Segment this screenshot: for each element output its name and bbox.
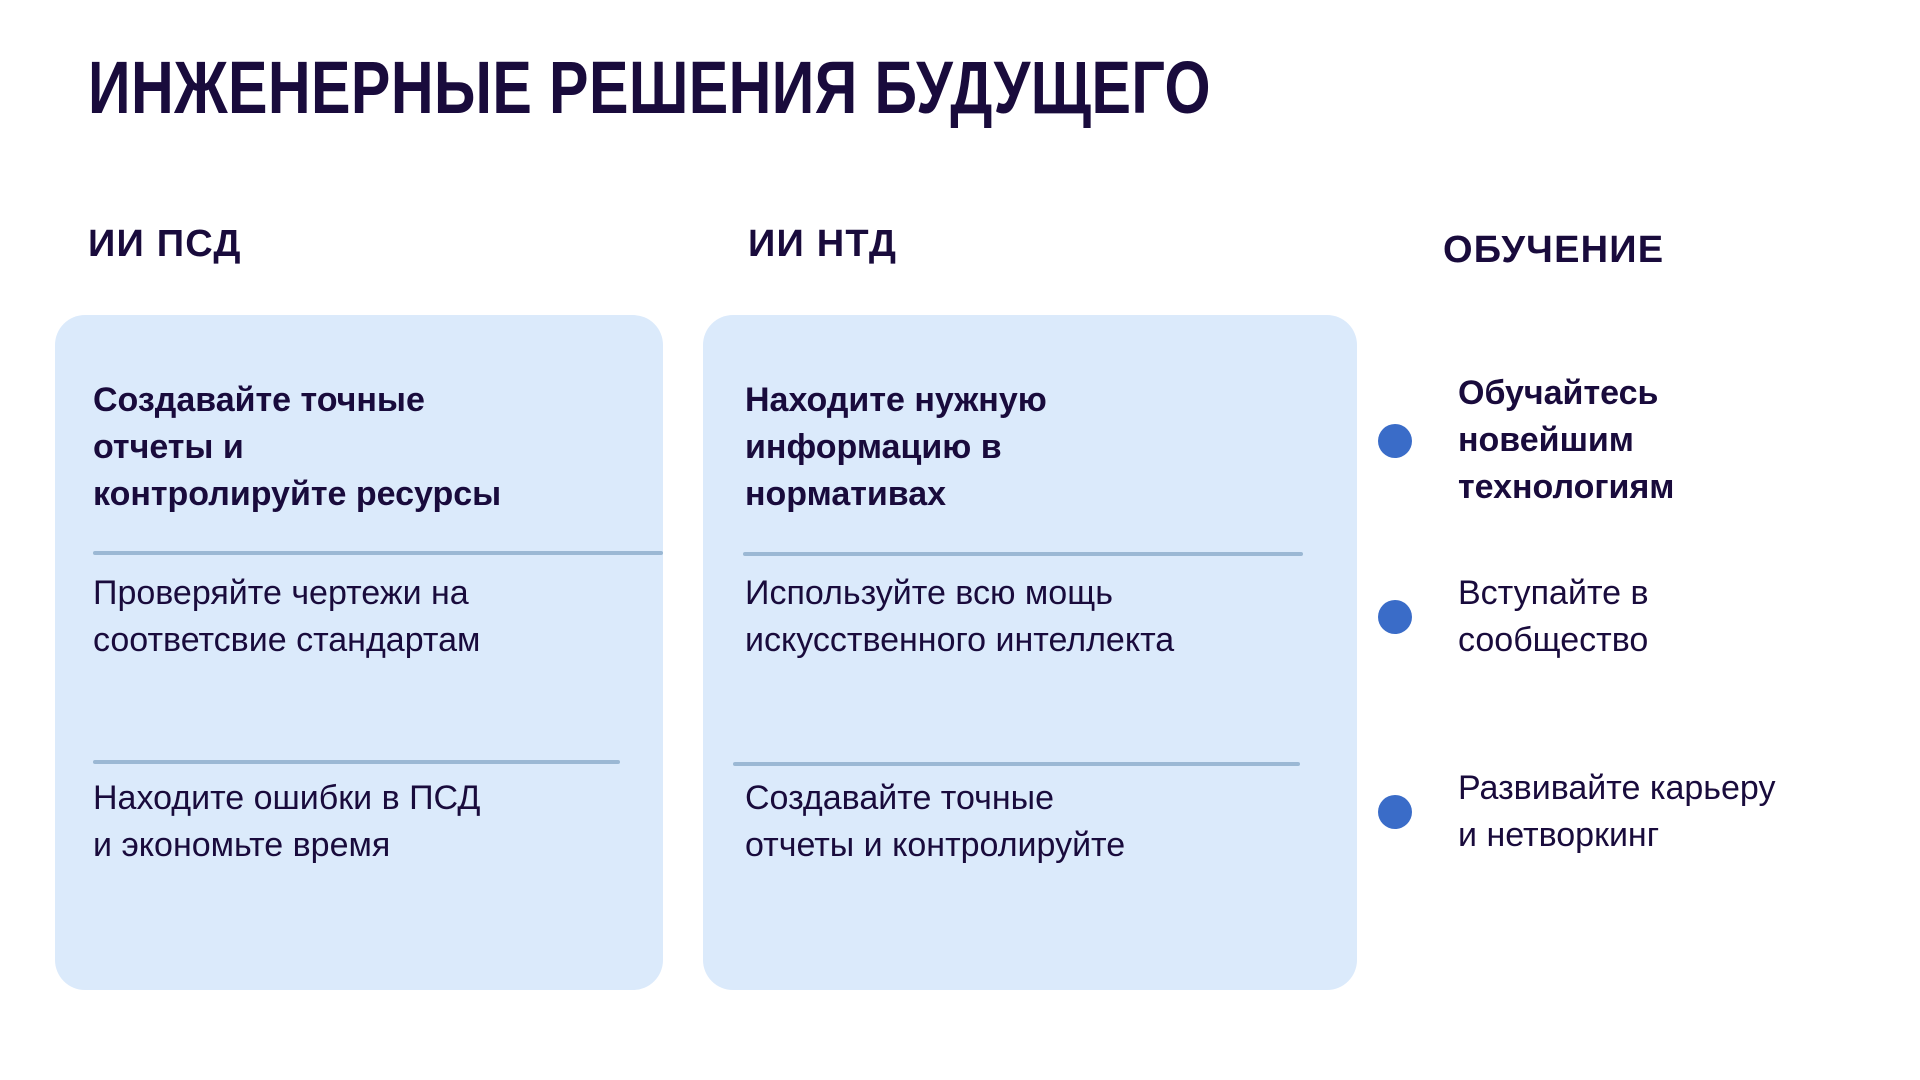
page-title: ИНЖЕНЕРНЫЕ РЕШЕНИЯ БУДУЩЕГО: [88, 46, 1211, 130]
training-bullet-1-label: Обучайтесь новейшим технологиям: [1458, 370, 1674, 511]
column-header-training: ОБУЧЕНИЕ: [1443, 228, 1664, 272]
card-ai-ntd-divider-1: [743, 552, 1303, 556]
training-bullet-3-label: Развивайте карьеру и нетворкинг: [1458, 765, 1775, 859]
list-item: Обучайтесь новейшим технологиям: [1378, 370, 1674, 511]
card-ai-ntd-item-2: Используйте всю мощь искусственного инте…: [745, 570, 1385, 664]
card-ai-psd-item-2: Проверяйте чертежи на соответсвие станда…: [93, 570, 613, 664]
bullet-dot-icon: [1378, 600, 1412, 634]
bullet-dot-icon: [1378, 424, 1412, 458]
column-header-ai-ntd: ИИ НТД: [748, 222, 897, 266]
slide-canvas: ИНЖЕНЕРНЫЕ РЕШЕНИЯ БУДУЩЕГО ИИ ПСД ИИ НТ…: [0, 0, 1920, 1080]
card-ai-ntd-item-3: Создавайте точные отчеты и контролируйте: [745, 775, 1305, 869]
list-item: Вступайте в сообщество: [1378, 570, 1649, 664]
card-ai-ntd-item-1: Находите нужную информацию в нормативах: [745, 377, 1265, 518]
training-bullet-2-label: Вступайте в сообщество: [1458, 570, 1649, 664]
card-ai-psd-divider-1: [93, 551, 663, 555]
card-ai-psd-item-3: Находите ошибки в ПСД и экономьте время: [93, 775, 613, 869]
card-ai-psd-content: Создавайте точные отчеты и контролируйте…: [55, 315, 663, 990]
card-ai-ntd-content: Находите нужную информацию в нормативах …: [703, 315, 1357, 990]
list-item: Развивайте карьеру и нетворкинг: [1378, 765, 1775, 859]
bullet-dot-icon: [1378, 795, 1412, 829]
card-ai-psd-divider-2: [93, 760, 620, 764]
card-ai-psd-item-1: Создавайте точные отчеты и контролируйте…: [93, 377, 613, 518]
card-ai-ntd-divider-2: [733, 762, 1300, 766]
column-header-ai-psd: ИИ ПСД: [88, 222, 242, 266]
